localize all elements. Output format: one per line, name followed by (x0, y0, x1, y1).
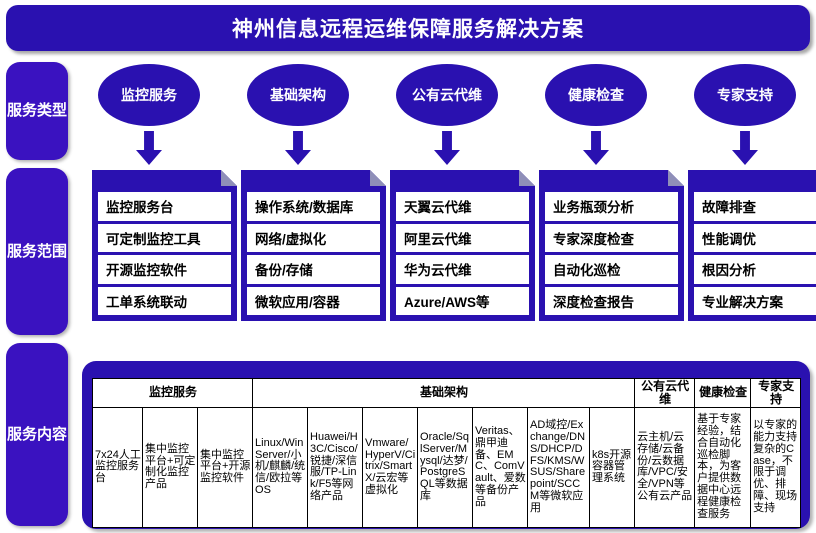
group-header-public-cloud: 公有云代维 (635, 379, 695, 408)
table-cell: k8s开源容器管理系统 (590, 407, 635, 527)
category-ellipse-expert-support-label: 专家支持 (717, 87, 773, 104)
down-arrow-icon-1 (136, 131, 162, 165)
scope-item: 监控服务台 (98, 192, 231, 221)
diagram-canvas: 神州信息远程运维保障服务解决方案 服务类型 服务范围 服务内容 监控服务 基础架… (0, 0, 816, 533)
scope-item: 专业解决方案 (694, 287, 816, 316)
category-ellipse-expert-support: 专家支持 (694, 64, 796, 126)
category-ellipse-health-check: 健康检查 (545, 64, 647, 126)
table-cell: 以专家的能力支持复杂的Case，不限于调优、排障、现场支持 (751, 407, 801, 527)
scope-box-items: 操作系统/数据库 网络/虚拟化 备份/存储 微软应用/容器 (247, 192, 380, 315)
scope-box-items: 业务瓶颈分析 专家深度检查 自动化巡检 深度检查报告 (545, 192, 678, 315)
table-cell: Veritas、鼎甲迪备、EMC、ComVault、爱数等备份产品 (473, 407, 528, 527)
scope-item: 天翼云代维 (396, 192, 529, 221)
category-ellipse-infrastructure-label: 基础架构 (270, 87, 326, 104)
group-header-expert-support: 专家支持 (751, 379, 801, 408)
scope-box-monitoring: 监控服务台 可定制监控工具 开源监控软件 工单系统联动 (92, 170, 237, 321)
category-ellipse-public-cloud: 公有云代维 (396, 64, 498, 126)
down-arrow-icon-5 (732, 131, 758, 165)
scope-item: 微软应用/容器 (247, 287, 380, 316)
table-cell: 7x24人工监控服务台 (93, 407, 143, 527)
scope-box-items: 故障排查 性能调优 根因分析 专业解决方案 (694, 192, 816, 315)
scope-item: 备份/存储 (247, 255, 380, 284)
table-row: 7x24人工监控服务台 集中监控平台+可定制化监控产品 集中监控平台+开源监控软… (93, 407, 801, 527)
down-arrow-icon-2 (285, 131, 311, 165)
category-ellipse-public-cloud-label: 公有云代维 (412, 87, 482, 104)
group-header-monitoring: 监控服务 (93, 379, 253, 408)
scope-item: 性能调优 (694, 224, 816, 253)
side-label-service-scope-text: 服务范围 (7, 243, 67, 260)
scope-box-infrastructure: 操作系统/数据库 网络/虚拟化 备份/存储 微软应用/容器 (241, 170, 386, 321)
down-arrow-icon-3 (434, 131, 460, 165)
table-cell: Linux/Win Server/小机/麒麟/统信/欧拉等OS (253, 407, 308, 527)
table-cell: AD域控/Exchange/DNS/DHCP/DFS/KMS/WSUS/Shar… (528, 407, 590, 527)
page-title: 神州信息远程运维保障服务解决方案 (232, 13, 584, 43)
scope-item: 阿里云代维 (396, 224, 529, 253)
scope-item: 深度检查报告 (545, 287, 678, 316)
folded-corner-icon (221, 170, 237, 186)
scope-item: 根因分析 (694, 255, 816, 284)
side-label-service-type: 服务类型 (6, 62, 68, 160)
category-ellipse-monitoring: 监控服务 (98, 64, 200, 126)
down-arrow-icon-4 (583, 131, 609, 165)
service-content-panel: 监控服务 基础架构 公有云代维 健康检查 专家支持 7x24人工监控服务台 集中… (82, 361, 810, 529)
group-header-health-check: 健康检查 (695, 379, 751, 408)
side-label-service-content-text: 服务内容 (7, 426, 67, 443)
folded-corner-icon (668, 170, 684, 186)
page-title-banner: 神州信息远程运维保障服务解决方案 (6, 5, 810, 51)
scope-box-public-cloud: 天翼云代维 阿里云代维 华为云代维 Azure/AWS等 (390, 170, 535, 321)
table-cell: Vmware/HyperV/Citrix/SmartX/云宏等虚拟化 (363, 407, 418, 527)
scope-item: 专家深度检查 (545, 224, 678, 253)
scope-box-items: 监控服务台 可定制监控工具 开源监控软件 工单系统联动 (98, 192, 231, 315)
folded-corner-icon (519, 170, 535, 186)
scope-item: 华为云代维 (396, 255, 529, 284)
scope-box-health-check: 业务瓶颈分析 专家深度检查 自动化巡检 深度检查报告 (539, 170, 684, 321)
side-label-service-scope: 服务范围 (6, 168, 68, 335)
scope-item: 工单系统联动 (98, 287, 231, 316)
side-label-service-type-text: 服务类型 (7, 102, 67, 119)
group-header-infrastructure: 基础架构 (253, 379, 635, 408)
category-ellipse-infrastructure: 基础架构 (247, 64, 349, 126)
service-content-table: 监控服务 基础架构 公有云代维 健康检查 专家支持 7x24人工监控服务台 集中… (92, 378, 801, 528)
table-header-row: 监控服务 基础架构 公有云代维 健康检查 专家支持 (93, 379, 801, 408)
side-label-service-content: 服务内容 (6, 343, 68, 526)
category-ellipse-monitoring-label: 监控服务 (121, 87, 177, 104)
category-ellipse-health-check-label: 健康检查 (568, 87, 624, 104)
scope-item: 业务瓶颈分析 (545, 192, 678, 221)
scope-box-items: 天翼云代维 阿里云代维 华为云代维 Azure/AWS等 (396, 192, 529, 315)
scope-item: 自动化巡检 (545, 255, 678, 284)
table-cell: 集中监控平台+开源监控软件 (198, 407, 253, 527)
table-cell: 基于专家经验，结合自动化巡检脚本，为客户提供数据中心远程健康检查服务 (695, 407, 751, 527)
scope-item: 可定制监控工具 (98, 224, 231, 253)
table-cell: 集中监控平台+可定制化监控产品 (143, 407, 198, 527)
table-cell: Huawei/H3C/Cisco/锐捷/深信服/TP-Link/F5等网络产品 (308, 407, 363, 527)
scope-item: 操作系统/数据库 (247, 192, 380, 221)
scope-item: Azure/AWS等 (396, 287, 529, 316)
scope-item: 开源监控软件 (98, 255, 231, 284)
table-cell: 云主机/云存储/云备份/云数据库/VPC/安全/VPN等公有云产品 (635, 407, 695, 527)
folded-corner-icon (370, 170, 386, 186)
scope-item: 网络/虚拟化 (247, 224, 380, 253)
table-cell: Oracle/SqlServer/Mysql/达梦/PostgreSQL等数据库 (418, 407, 473, 527)
scope-item: 故障排查 (694, 192, 816, 221)
scope-box-expert-support: 故障排查 性能调优 根因分析 专业解决方案 (688, 170, 816, 321)
